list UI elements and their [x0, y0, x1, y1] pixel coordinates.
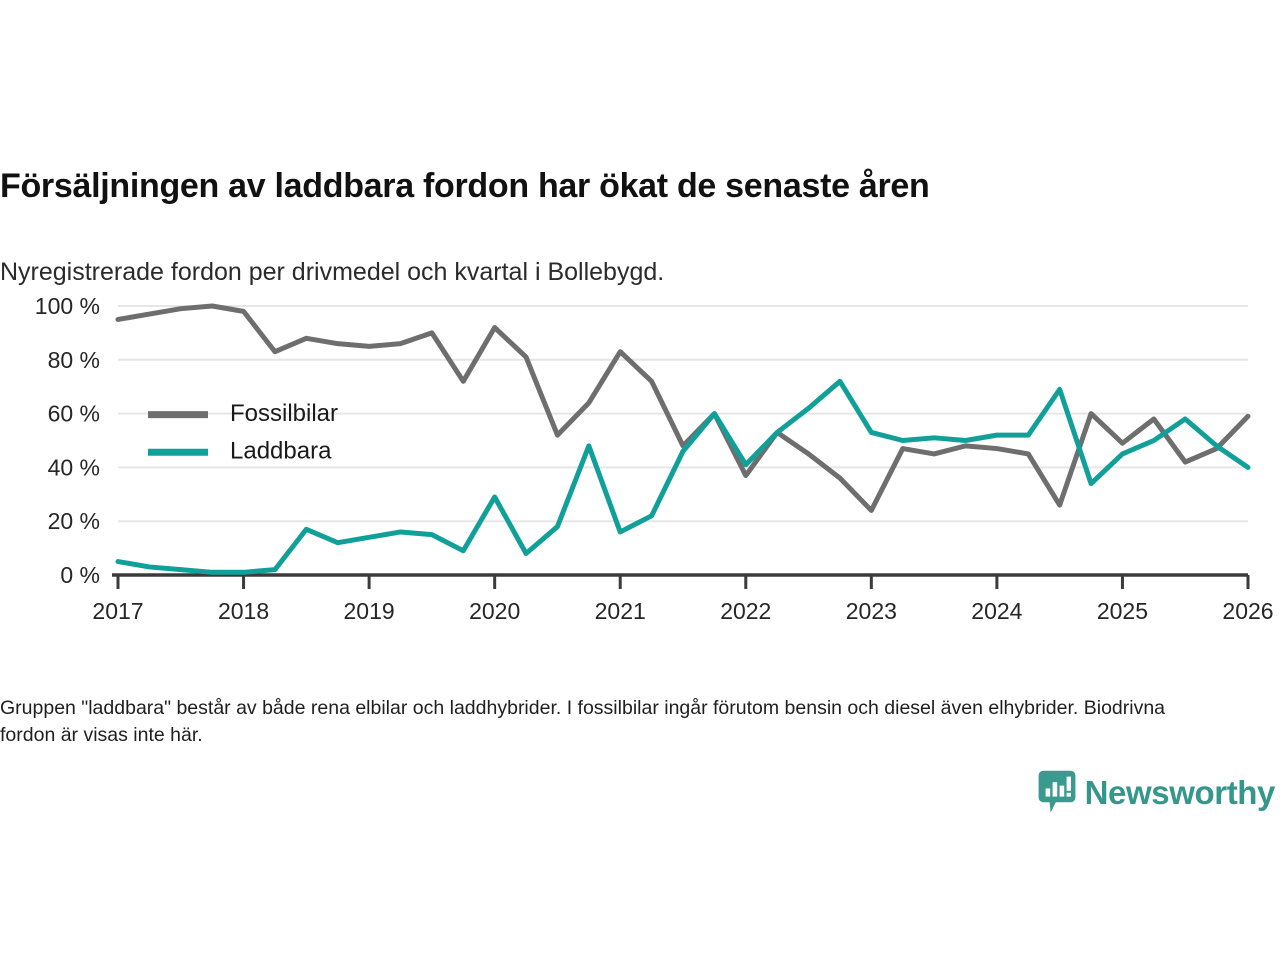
x-axis-tick-label: 2017 — [92, 598, 143, 624]
chart-footnote: Gruppen "laddbara" består av både rena e… — [0, 695, 1215, 750]
logo-wordmark: Newsworthy — [1085, 776, 1275, 809]
chart-legend: FossilbilarLaddbara — [148, 400, 338, 465]
newsworthy-logo[interactable]: Newsworthy — [1038, 768, 1275, 816]
y-axis-tick-label: 60 % — [48, 401, 100, 427]
x-axis-tick-label: 2018 — [218, 598, 269, 624]
y-axis-tick-label: 100 % — [35, 293, 100, 319]
chart-page: Försäljningen av laddbara fordon har öka… — [0, 0, 1280, 960]
chart-subtitle: Nyregistrerade fordon per drivmedel och … — [0, 257, 1260, 287]
x-axis-ticks — [118, 575, 1248, 589]
line-chart: 0 %20 %40 %60 %80 %100 % 201720182019202… — [0, 286, 1280, 626]
x-axis-tick-labels: 2017201820192020202120222023202420252026 — [92, 598, 1273, 624]
x-axis-tick-label: 2023 — [846, 598, 897, 624]
y-axis-tick-label: 20 % — [48, 508, 100, 534]
y-axis-tick-labels: 0 %20 %40 %60 %80 %100 % — [35, 293, 100, 588]
y-axis-tick-label: 0 % — [60, 562, 100, 588]
legend-label-laddbara: Laddbara — [230, 438, 332, 465]
x-axis-tick-label: 2026 — [1222, 598, 1273, 624]
y-axis-tick-label: 80 % — [48, 347, 100, 373]
x-axis-tick-label: 2021 — [595, 598, 646, 624]
x-axis-tick-label: 2025 — [1097, 598, 1148, 624]
y-axis-tick-label: 40 % — [48, 454, 100, 480]
x-axis-tick-label: 2020 — [469, 598, 520, 624]
x-axis-tick-label: 2019 — [344, 598, 395, 624]
page-title: Försäljningen av laddbara fordon har öka… — [0, 167, 1260, 206]
chart-container: 0 %20 %40 %60 %80 %100 % 201720182019202… — [0, 286, 1280, 626]
legend-label-fossilbilar: Fossilbilar — [230, 400, 338, 427]
x-axis-tick-label: 2024 — [971, 598, 1022, 624]
newsworthy-bars-bubble-icon — [1038, 770, 1076, 814]
x-axis-tick-label: 2022 — [720, 598, 771, 624]
